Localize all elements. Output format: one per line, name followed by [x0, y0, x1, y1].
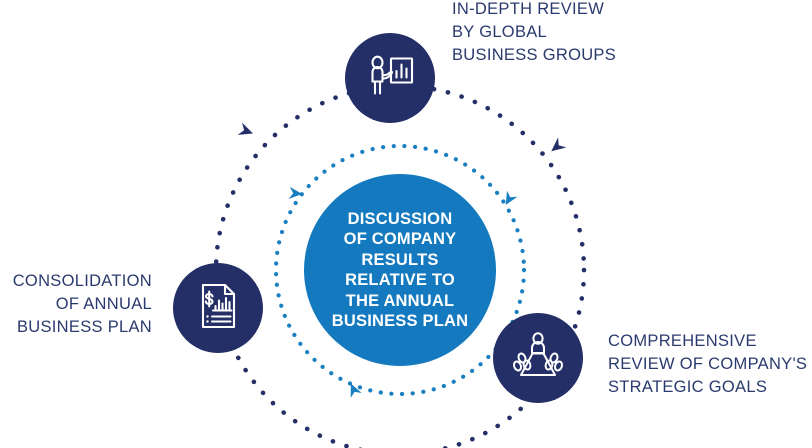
center-label: DISCUSSION OF COMPANY RESULTS RELATIVE T…: [332, 209, 468, 332]
inner-ring-arrow: [289, 187, 303, 200]
conference-table-icon: [509, 327, 567, 390]
inner-ring-arrow: [345, 381, 361, 398]
node-left-circle[interactable]: [173, 263, 263, 353]
node-bottom-right-circle[interactable]: [493, 313, 583, 403]
inner-ring-arrow: [501, 191, 518, 208]
center-circle: DISCUSSION OF COMPANY RESULTS RELATIVE T…: [304, 174, 496, 366]
label-left: CONSOLIDATION OF ANNUAL BUSINESS PLAN: [0, 270, 152, 339]
label-bottom-right: COMPREHENSIVE REVIEW OF COMPANY'S STRATE…: [608, 330, 807, 399]
label-top-right: IN-DEPTH REVIEW BY GLOBAL BUSINESS GROUP…: [452, 0, 616, 67]
node-top-circle[interactable]: [345, 33, 435, 123]
financial-document-icon: [191, 279, 245, 338]
outer-ring-arrow: [547, 137, 566, 156]
outer-ring-arrow: [238, 123, 256, 140]
presenter-chart-icon: [362, 48, 418, 109]
diagram-canvas: DISCUSSION OF COMPANY RESULTS RELATIVE T…: [0, 0, 812, 448]
